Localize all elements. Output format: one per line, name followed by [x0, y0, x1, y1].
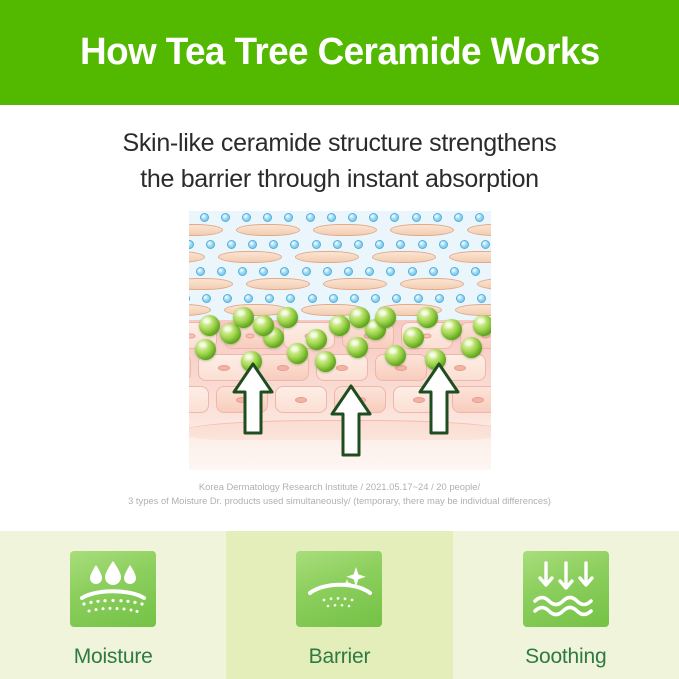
absorption-arrow — [417, 361, 461, 437]
hydration-dot — [269, 240, 278, 249]
hydration-dot — [450, 267, 459, 276]
hydration-dot — [475, 213, 484, 222]
hydration-dot — [369, 213, 378, 222]
absorption-arrow — [329, 383, 373, 459]
corneocyte — [189, 278, 233, 290]
ceramide-sphere — [441, 319, 462, 340]
benefit-label: Barrier — [309, 645, 371, 669]
ceramide-sphere — [287, 343, 308, 364]
hydration-dot — [333, 240, 342, 249]
hydration-dot — [189, 240, 194, 249]
hydration-dot — [238, 267, 247, 276]
hydration-dot — [408, 267, 417, 276]
hydration-dot — [206, 240, 215, 249]
ceramide-sphere — [403, 327, 424, 348]
hydration-dot — [477, 294, 486, 303]
hydration-dot — [433, 213, 442, 222]
hydration-dot — [280, 267, 289, 276]
hydration-dot — [263, 213, 272, 222]
corneocyte — [477, 278, 491, 290]
hydration-dot — [435, 294, 444, 303]
hydration-dot — [244, 294, 253, 303]
cell-nucleus — [245, 333, 254, 338]
study-caption: Korea Dermatology Research Institute / 2… — [0, 480, 679, 508]
hydration-dot — [354, 240, 363, 249]
water-droplets-icon — [70, 551, 156, 627]
benefit-label: Moisture — [74, 645, 153, 669]
hydration-dot — [286, 294, 295, 303]
promo-page: How Tea Tree Ceramide Works Skin-like ce… — [0, 0, 679, 679]
hydration-dot-row — [189, 294, 491, 303]
subtitle-line-1: Skin-like ceramide structure strengthens — [122, 125, 556, 161]
caption-line-2: 3 types of Moisture Dr. products used si… — [0, 494, 679, 508]
hydration-dot — [312, 240, 321, 249]
cell-nucleus — [472, 397, 484, 403]
ceramide-sphere — [375, 307, 396, 328]
corneocyte-row — [189, 251, 491, 263]
corneocyte — [400, 278, 464, 290]
hydration-dot — [223, 294, 232, 303]
hydration-dot — [344, 267, 353, 276]
benefit-label: Soothing — [525, 645, 606, 669]
subtitle-line-2: the barrier through instant absorption — [122, 161, 556, 197]
hydration-dot — [348, 213, 357, 222]
hydration-dot — [284, 213, 293, 222]
hydration-dot — [371, 294, 380, 303]
hydration-dot — [390, 213, 399, 222]
corneocyte-row — [189, 224, 491, 236]
ceramide-sphere — [347, 337, 368, 358]
corneocyte — [467, 224, 491, 236]
corneocyte — [246, 278, 310, 290]
hydration-dot — [454, 213, 463, 222]
hydration-dot — [350, 294, 359, 303]
cell-nucleus — [277, 365, 289, 371]
benefits-row: Moisture Barrier — [0, 531, 679, 679]
benefit-barrier[interactable]: Barrier — [226, 531, 452, 679]
ceramide-sphere — [385, 345, 406, 366]
ceramide-sphere — [306, 329, 327, 350]
cell-nucleus — [189, 333, 196, 338]
hydration-dot — [242, 213, 251, 222]
corneocyte — [323, 278, 387, 290]
hydration-dot — [365, 267, 374, 276]
benefit-moisture[interactable]: Moisture — [0, 531, 226, 679]
corneocyte — [236, 224, 300, 236]
hydration-dot — [386, 267, 395, 276]
corneocyte-row — [189, 278, 491, 290]
hydration-dot — [418, 240, 427, 249]
corneocyte — [295, 251, 359, 263]
cell-nucleus — [295, 397, 307, 403]
down-arrows-waves-icon — [523, 551, 609, 627]
hydration-dot — [392, 294, 401, 303]
hydration-dot — [323, 267, 332, 276]
ceramide-sphere — [473, 315, 491, 336]
hydration-dot — [396, 240, 405, 249]
hydration-dot — [302, 267, 311, 276]
hydration-dot — [189, 294, 190, 303]
hydration-dot — [200, 213, 209, 222]
skin-cell — [275, 386, 327, 413]
hydration-dot — [329, 294, 338, 303]
cell-nucleus — [218, 365, 230, 371]
hydration-dot — [412, 213, 421, 222]
main-content: Skin-like ceramide structure strengthens… — [0, 105, 679, 531]
hydration-dot — [308, 294, 317, 303]
hydration-dot — [306, 213, 315, 222]
hydration-dot-row — [189, 267, 491, 276]
page-title: How Tea Tree Ceramide Works — [80, 31, 600, 74]
corneocyte — [313, 224, 377, 236]
hydration-dot — [227, 240, 236, 249]
ceramide-sphere — [233, 307, 254, 328]
hydration-dot-row — [189, 213, 491, 222]
corneocyte — [449, 251, 491, 263]
hydration-dot — [460, 240, 469, 249]
hydration-dot — [439, 240, 448, 249]
skin-cell — [189, 386, 209, 413]
hydration-dot — [202, 294, 211, 303]
ceramide-sphere — [461, 337, 482, 358]
hydration-dot — [471, 267, 480, 276]
hydration-dot — [196, 267, 205, 276]
ceramide-sphere — [253, 315, 274, 336]
ceramide-sphere — [199, 315, 220, 336]
hydration-dot — [248, 240, 257, 249]
corneocyte — [189, 224, 223, 236]
corneocyte — [372, 251, 436, 263]
hydration-dot — [217, 267, 226, 276]
hydration-dot — [259, 267, 268, 276]
hydration-dot — [481, 240, 490, 249]
caption-line-1: Korea Dermatology Research Institute / 2… — [0, 480, 679, 494]
hydration-dot — [221, 213, 230, 222]
cell-nucleus — [336, 365, 348, 371]
subtitle-block: Skin-like ceramide structure strengthens… — [122, 125, 556, 197]
corneocyte — [189, 251, 205, 263]
hydration-dot — [290, 240, 299, 249]
corneocyte — [218, 251, 282, 263]
skin-cross-section-diagram — [189, 211, 491, 470]
skin-cell — [189, 354, 191, 381]
absorption-arrow — [231, 361, 275, 437]
hydration-dot-row — [189, 240, 491, 249]
benefit-soothing[interactable]: Soothing — [453, 531, 679, 679]
hydration-dot — [375, 240, 384, 249]
stratum-corneum-layer — [189, 211, 491, 320]
page-header: How Tea Tree Ceramide Works — [0, 0, 679, 105]
hydration-dot — [265, 294, 274, 303]
hydration-dot — [456, 294, 465, 303]
hydration-dot — [327, 213, 336, 222]
barrier-shield-sparkle-icon — [296, 551, 382, 627]
ceramide-sphere — [195, 339, 216, 360]
corneocyte — [390, 224, 454, 236]
hydration-dot — [414, 294, 423, 303]
hydration-dot — [429, 267, 438, 276]
ceramide-sphere — [329, 315, 350, 336]
ceramide-sphere — [417, 307, 438, 328]
ceramide-sphere — [315, 351, 336, 372]
ceramide-sphere — [277, 307, 298, 328]
ceramide-sphere — [349, 307, 370, 328]
